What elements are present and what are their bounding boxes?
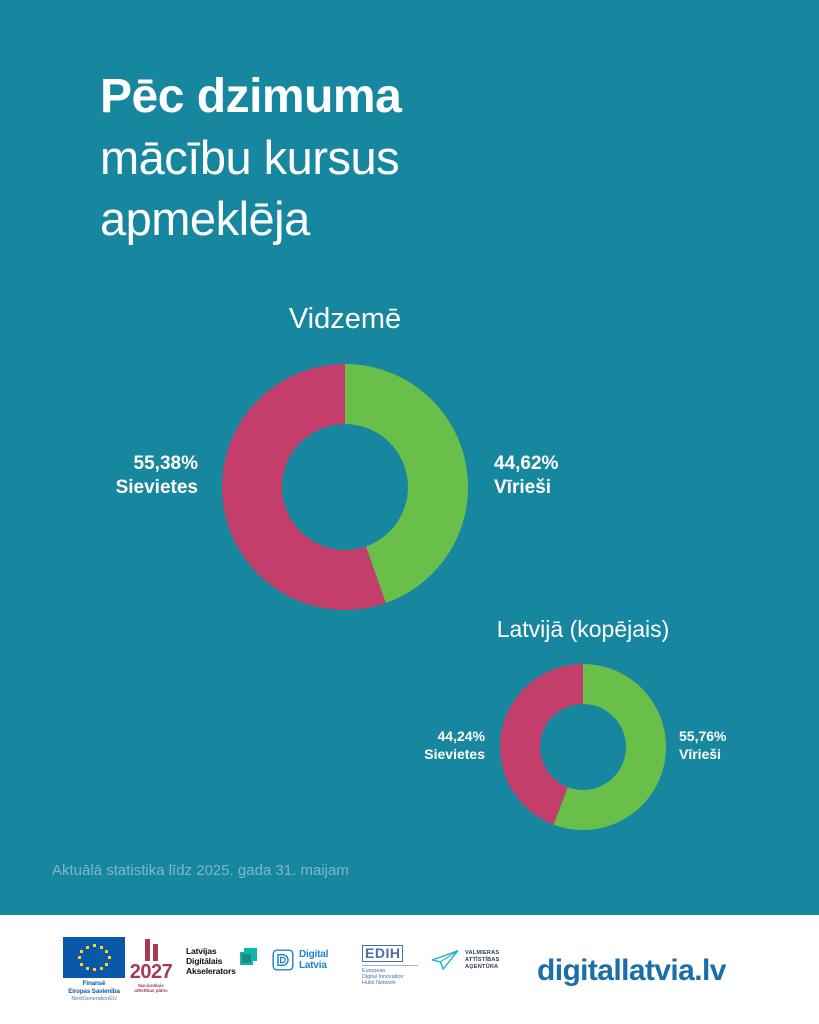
chart-title-vidzeme: Vidzemē: [185, 303, 505, 336]
label-male-pct: 44,62%: [494, 452, 558, 476]
dl-line1: Digital: [299, 949, 328, 960]
valmiera-arrow-icon: [430, 949, 460, 971]
donut-vidzeme: [222, 364, 468, 610]
edih-sub-line2: Digital Innovation: [362, 974, 403, 980]
vaa-line3: AĢENTŪRA: [465, 964, 498, 970]
nap-bars-icon: [124, 939, 178, 961]
label-male-vidzeme: 44,62% Vīrieši: [494, 452, 558, 501]
label-female-who: Sievietes: [58, 476, 198, 500]
edih-subtitle: European Digital Innovation Hubs Network: [362, 965, 418, 987]
label-female-pct: 55,38%: [58, 452, 198, 476]
edih-logo: EDIH European Digital Innovation Hubs Ne…: [362, 945, 418, 987]
label-male-latvija: 55,76% Vīrieši: [679, 728, 726, 764]
nap-sub-line1: Nacionālais: [138, 983, 164, 988]
label-female-pct: 44,24%: [355, 728, 485, 746]
lda-line3: Akselerators: [186, 966, 236, 976]
dl-line2: Latvia: [299, 960, 327, 971]
title-line-1: Pēc dzimuma: [100, 66, 700, 127]
label-female-vidzeme: 55,38% Sievietes: [58, 452, 198, 501]
vaa-line2: ATTĪSTĪBAS: [465, 957, 500, 963]
donut-latvija: [500, 664, 666, 830]
digital-latvia-logo: Digital Latvia: [272, 949, 350, 971]
footnote-statistics-date: Aktuālā statistika līdz 2025. gada 31. m…: [52, 862, 349, 879]
eu-caption-line2: Eiropas Savienība: [68, 988, 120, 995]
edih-sub-line1: European: [362, 968, 385, 974]
footer-bar: Finansē Eiropas Savienība NextGeneration…: [0, 915, 819, 1024]
title-line-3: apmeklēja: [100, 188, 700, 249]
chart-title-latvija: Latvijā (kopējais): [443, 616, 723, 643]
nap-2027-logo: 2027 Nacionālais attīstības plāns: [124, 939, 178, 994]
edih-wordmark: EDIH: [362, 945, 403, 962]
label-male-pct: 55,76%: [679, 728, 726, 746]
edih-sub-line3: Hubs Network: [362, 980, 396, 986]
title-line-2: mācību kursus: [100, 127, 700, 188]
nap-year: 2027: [124, 962, 178, 982]
lda-text: Latvijas Digitālais Akselerators: [186, 947, 236, 976]
eu-caption-line3: NextGenerationEU: [50, 996, 138, 1004]
label-female-who: Sievietes: [355, 746, 485, 764]
digital-latvia-mark-icon: [272, 949, 294, 971]
label-male-who: Vīrieši: [679, 746, 726, 764]
label-female-latvija: 44,24% Sievietes: [355, 728, 485, 764]
valmiera-text: VALMIERAS ATTĪSTĪBAS AĢENTŪRA: [465, 950, 500, 971]
label-male-who: Vīrieši: [494, 476, 558, 500]
lda-line2: Digitālais: [186, 956, 222, 966]
page-title: Pēc dzimuma mācību kursus apmeklēja: [100, 66, 700, 249]
nap-sub-line2: attīstības plāns: [134, 988, 167, 993]
eu-caption-line1: Finansē: [83, 980, 106, 987]
latvijas-digitalais-akselerators-logo: Latvijas Digitālais Akselerators: [186, 947, 264, 976]
lda-line1: Latvijas: [186, 946, 216, 956]
vaa-line1: VALMIERAS: [465, 950, 499, 956]
poster: Pēc dzimuma mācību kursus apmeklēja Vidz…: [0, 0, 819, 1024]
eu-flag-icon: [63, 937, 125, 978]
valmieras-attistibas-agentura-logo: VALMIERAS ATTĪSTĪBAS AĢENTŪRA: [430, 949, 522, 971]
lda-squares-icon: [240, 948, 257, 965]
nap-subtitle: Nacionālais attīstības plāns: [124, 983, 178, 994]
site-url[interactable]: digitallatvia.lv: [537, 954, 726, 988]
digital-latvia-text: Digital Latvia: [299, 949, 328, 971]
